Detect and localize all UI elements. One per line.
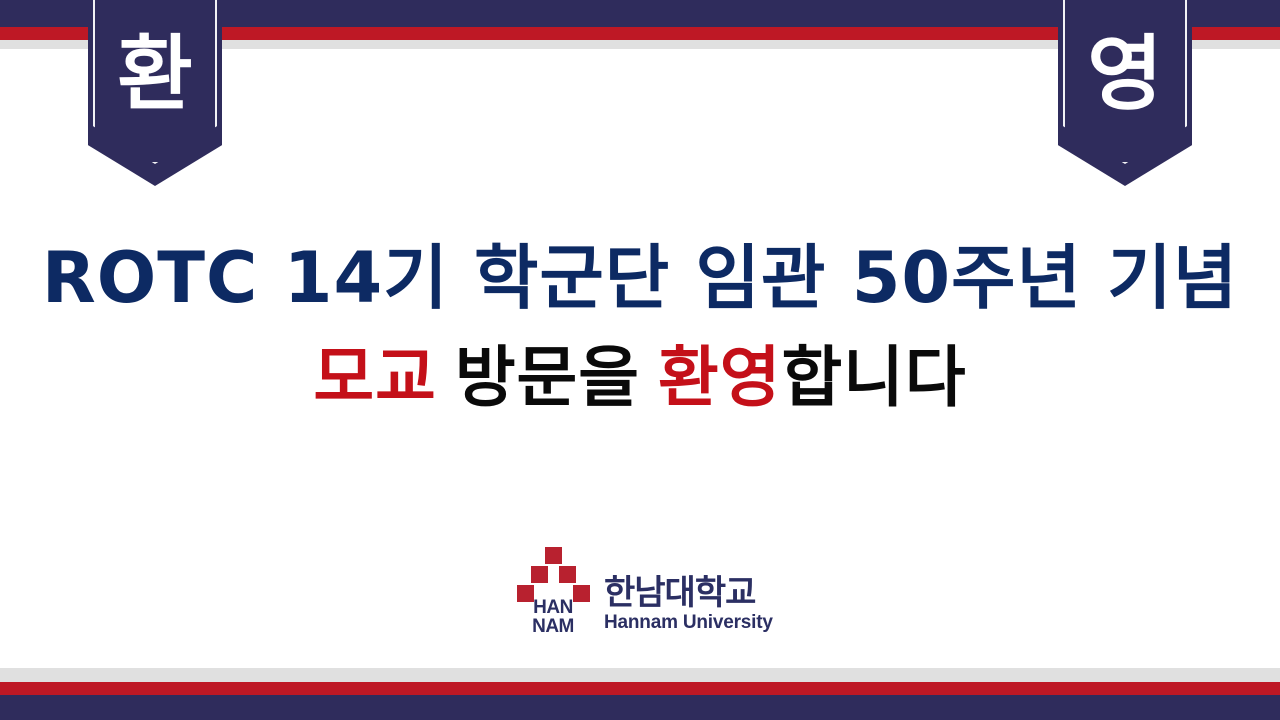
- headline-line-1: ROTC 14기 학군단 임관 50주년 기념: [0, 228, 1280, 328]
- pyramid-square-top: [544, 546, 563, 565]
- headline-alma-mater: 모교: [313, 339, 436, 416]
- logo-text-block: 한남대학교 Hannam University: [604, 574, 773, 636]
- logo-mark-word-nam: NAM: [516, 617, 590, 636]
- university-name-english: Hannam University: [604, 612, 773, 634]
- ribbon-left: 환: [88, 0, 222, 186]
- welcome-banner-slide: { "colors": { "navy_band": "#2f2c5c", "r…: [0, 0, 1280, 720]
- ribbon-left-character: 환: [88, 30, 222, 120]
- logo-mark-wordmark: HAN NAM: [516, 598, 590, 636]
- headline-visit: 방문을: [455, 339, 640, 416]
- pyramid-square-middle-right: [558, 565, 577, 584]
- hannam-pyramid-mark-icon: HAN NAM: [516, 544, 590, 636]
- university-name-korean: 한남대학교: [604, 574, 773, 612]
- headline-welcome: 환영: [658, 339, 781, 416]
- bottom-navy-stripe: [0, 695, 1280, 720]
- bottom-gray-stripe: [0, 668, 1280, 682]
- logo-mark-word-han: HAN: [516, 598, 590, 617]
- ribbon-right-character: 영: [1058, 30, 1192, 120]
- headline-line-2: 모교방문을환영합니다: [0, 328, 1280, 428]
- ribbon-right: 영: [1058, 0, 1192, 186]
- headline-polite-suffix: 합니다: [781, 339, 966, 416]
- bottom-red-stripe: [0, 682, 1280, 695]
- page-title: ROTC 14기 학군단 임관 50주년 기념 모교방문을환영합니다: [0, 228, 1280, 428]
- hannam-university-logo: HAN NAM 한남대학교 Hannam University: [516, 544, 776, 636]
- pyramid-square-middle-left: [530, 565, 549, 584]
